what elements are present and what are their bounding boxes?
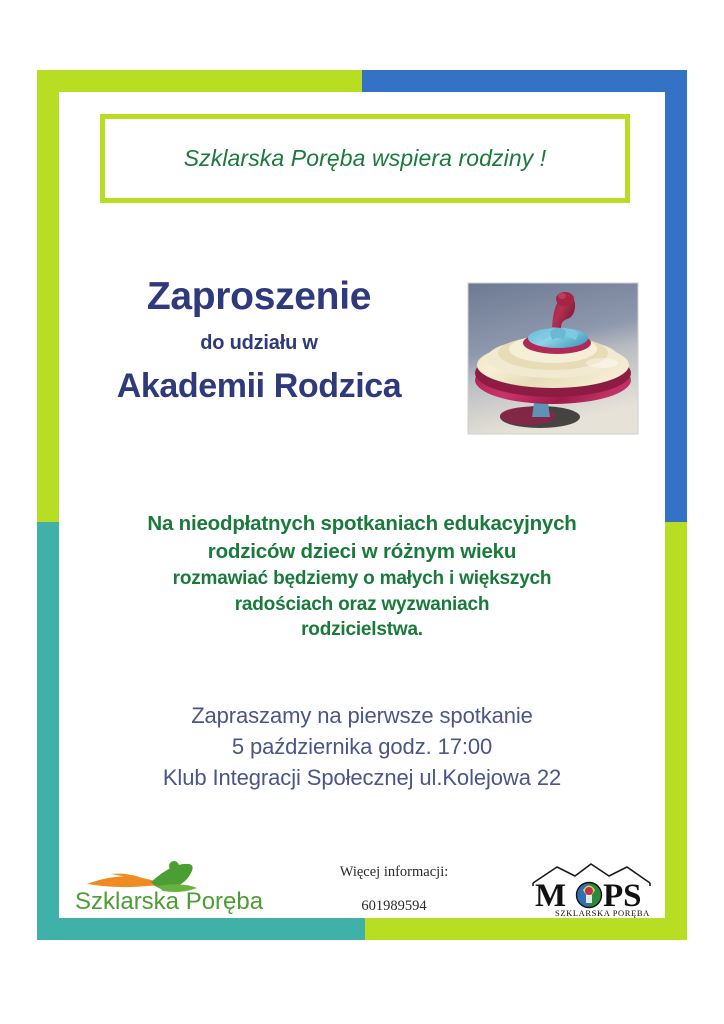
body-line: rodzicielstwa. [69, 617, 655, 643]
border-band-top-green [37, 70, 362, 92]
body-line: rodziców dzieci w różnym wieku [69, 538, 655, 566]
body-line: radościach oraz wyzwaniach [69, 592, 655, 618]
page-title: Zaproszenie [59, 277, 459, 318]
border-band-left-green [37, 70, 59, 522]
szklarska-poreba-logo: Szklarska Poręba [73, 860, 289, 916]
body-line: rozmawiać będziemy o małych i większych [69, 566, 655, 592]
svg-text:Szklarska Poręba: Szklarska Poręba [75, 888, 264, 915]
title-subtitle: do udziału w [59, 332, 459, 355]
border-band-top-blue [362, 70, 687, 92]
event-line: Zapraszamy na pierwsze spotkanie [69, 700, 655, 731]
title-block: Zaproszenie do udziału w Akademii Rodzic… [59, 277, 459, 406]
contact-phone: 601989594 [294, 898, 494, 915]
footer: Szklarska Poręba Więcej informacji: 6019… [59, 860, 665, 918]
header-banner-text: Szklarska Poręba wspiera rodziny ! [184, 145, 547, 172]
poster-content: Szklarska Poręba wspiera rodziny ! Zapro… [59, 92, 665, 918]
contact-label: Więcej informacji: [294, 864, 494, 881]
border-band-right-green [665, 522, 687, 940]
program-name: Akademii Rodzica [59, 367, 459, 406]
event-line: 5 października godz. 17:00 [69, 731, 655, 762]
mops-logo: M PS SZKLARSKA PORĘBA [529, 861, 654, 919]
event-line: Klub Integracji Społecznej ul.Kolejowa 2… [69, 762, 655, 793]
border-band-bottom-green [365, 918, 687, 940]
body-paragraph: Na nieodpłatnych spotkaniach edukacyjnyc… [69, 510, 655, 643]
spinning-top-photo [462, 277, 644, 440]
contact-info: Więcej informacji: 601989594 [294, 864, 494, 915]
border-band-left-teal [37, 522, 59, 940]
header-banner-box: Szklarska Poręba wspiera rodziny ! [100, 114, 630, 203]
poster: Szklarska Poręba wspiera rodziny ! Zapro… [0, 0, 724, 1024]
border-band-bottom-teal [37, 918, 365, 940]
event-details: Zapraszamy na pierwsze spotkanie 5 paźdz… [69, 700, 655, 794]
border-band-right-blue [665, 70, 687, 522]
body-line: Na nieodpłatnych spotkaniach edukacyjnyc… [69, 510, 655, 538]
svg-text:SZKLARSKA PORĘBA: SZKLARSKA PORĘBA [555, 908, 650, 918]
